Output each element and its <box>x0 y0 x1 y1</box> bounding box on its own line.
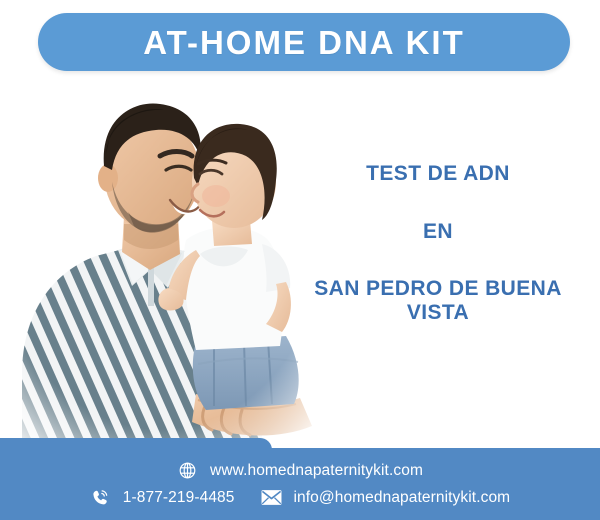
headline-line-test: TEST DE ADN <box>288 162 588 186</box>
footer-row-website: www.homednapaternitykit.com <box>177 460 423 481</box>
footer-row-contact: 1-877-219-4485 info@homednapaternitykit.… <box>90 487 510 508</box>
footer-website-text: www.homednapaternitykit.com <box>210 463 423 479</box>
footer-website-item[interactable]: www.homednapaternitykit.com <box>177 460 423 481</box>
header-banner: AT-HOME DNA KIT <box>38 13 570 71</box>
page-title: AT-HOME DNA KIT <box>143 26 464 59</box>
footer-phone-text: 1-877-219-4485 <box>123 490 235 506</box>
phone-icon <box>90 487 111 508</box>
footer-email-text: info@homednapaternitykit.com <box>294 490 511 506</box>
footer-email-item[interactable]: info@homednapaternitykit.com <box>261 487 511 508</box>
footer-phone-item[interactable]: 1-877-219-4485 <box>90 487 235 508</box>
headline-block: TEST DE ADN EN SAN PEDRO DE BUENA VISTA <box>288 162 588 324</box>
headline-line-en: EN <box>288 220 588 244</box>
globe-icon <box>177 460 198 481</box>
father-and-child-photo <box>0 74 320 446</box>
promo-card: AT-HOME DNA KIT <box>0 0 600 520</box>
envelope-icon <box>261 487 282 508</box>
headline-line-location: SAN PEDRO DE BUENA VISTA <box>288 277 588 324</box>
footer-content: www.homednapaternitykit.com 1-877-219-44… <box>0 448 600 520</box>
